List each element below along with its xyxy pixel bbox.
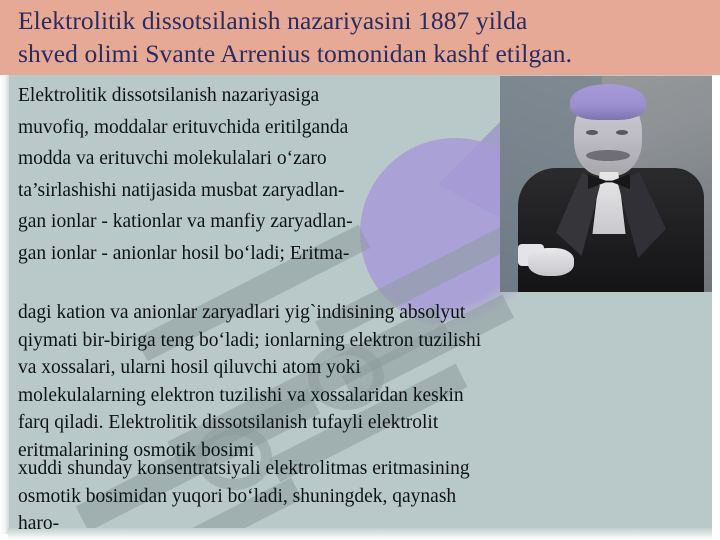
portrait-moustache <box>586 150 630 161</box>
portrait-hand <box>528 248 574 276</box>
panel-left-edge <box>0 72 9 534</box>
portrait-eye-left <box>586 130 598 135</box>
portrait-hair <box>570 84 646 120</box>
body-text-column: Elektrolitik dissotsilanish nazariyasiga… <box>18 80 500 269</box>
body-text-continued: xuddi shunday konsentratsiyali elektroli… <box>18 455 704 538</box>
portrait-photo-svante-arrenius <box>500 76 712 292</box>
portrait-eye-right <box>616 130 628 135</box>
presentation-slide: Elektrolitik dissotsilanish nazariyasini… <box>0 0 720 540</box>
slide-title: Elektrolitik dissotsilanish nazariyasini… <box>18 4 708 70</box>
body-text-full-width: dagi kation va anionlar zaryadlari yig`i… <box>18 299 704 464</box>
